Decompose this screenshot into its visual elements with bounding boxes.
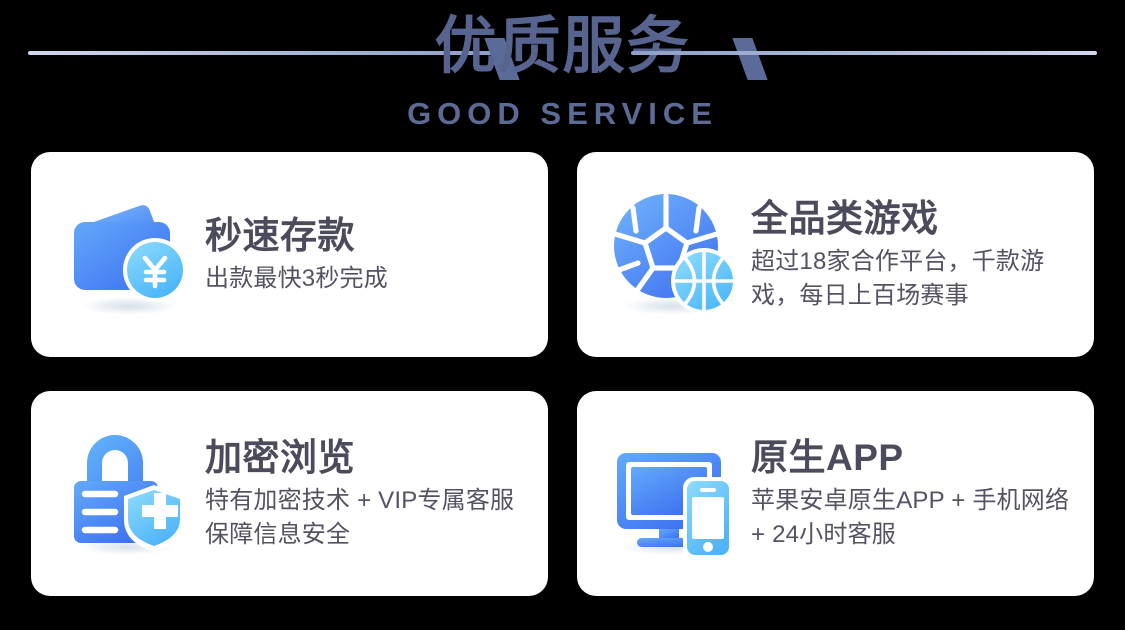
feature-card-text: 秒速存款 出款最快3秒完成	[199, 213, 534, 296]
lock-shield-icon	[57, 423, 199, 565]
soccer-basketball-icon	[603, 184, 745, 326]
page-subtitle: GOOD SERVICE	[0, 96, 1125, 132]
feature-card-encryption[interactable]: 加密浏览 特有加密技术 + VIP专属客服保障信息安全	[31, 391, 548, 596]
page-header: 优质服务 GOOD SERVICE	[0, 0, 1125, 148]
feature-card-deposit[interactable]: 秒速存款 出款最快3秒完成	[31, 152, 548, 357]
feature-card-title: 全品类游戏	[751, 196, 1080, 242]
feature-card-games[interactable]: 全品类游戏 超过18家合作平台，千款游戏，每日上百场赛事	[577, 152, 1094, 357]
feature-card-desc: 苹果安卓原生APP + 手机网络 + 24小时客服	[751, 484, 1080, 552]
feature-card-native-app[interactable]: 原生APP 苹果安卓原生APP + 手机网络 + 24小时客服	[577, 391, 1094, 596]
feature-card-title: 原生APP	[751, 435, 1080, 481]
feature-card-text: 加密浏览 特有加密技术 + VIP专属客服保障信息安全	[199, 435, 534, 552]
feature-card-text: 原生APP 苹果安卓原生APP + 手机网络 + 24小时客服	[745, 435, 1080, 552]
page-title: 优质服务	[0, 5, 1125, 89]
monitor-phone-icon	[603, 423, 745, 565]
feature-card-desc: 出款最快3秒完成	[205, 262, 534, 296]
feature-card-title: 秒速存款	[205, 213, 534, 259]
feature-card-text: 全品类游戏 超过18家合作平台，千款游戏，每日上百场赛事	[745, 196, 1080, 313]
feature-card-grid: 秒速存款 出款最快3秒完成	[31, 152, 1094, 596]
header-rule-right	[631, 51, 1097, 55]
feature-card-title: 加密浏览	[205, 435, 534, 481]
feature-card-desc: 特有加密技术 + VIP专属客服保障信息安全	[205, 484, 534, 552]
feature-card-desc: 超过18家合作平台，千款游戏，每日上百场赛事	[751, 245, 1080, 313]
wallet-yen-icon	[57, 184, 199, 326]
